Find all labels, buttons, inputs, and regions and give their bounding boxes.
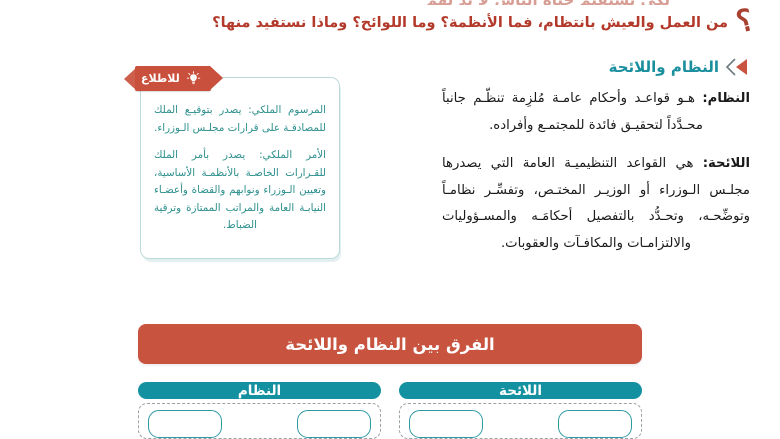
section-heading-text: النظام واللائحة <box>609 58 719 76</box>
column-item-placeholder[interactable] <box>409 410 483 438</box>
double-chevron-left-icon <box>726 58 748 76</box>
column-item-placeholder[interactable] <box>558 410 632 438</box>
column-header-laiha-text: اللائحة <box>499 383 542 399</box>
definition-text-nizam: هـو قواعـد وأحكام عامـة مُلزِمة تنظّـم ج… <box>442 91 703 133</box>
lightbulb-idea-icon <box>186 71 201 86</box>
definition-paragraph-laiha: اللائحة: هي القواعد التنظيميـة العامة ال… <box>442 151 750 257</box>
term-nizam: النظام: <box>702 91 750 106</box>
column-header-nizam-text: النظام <box>238 383 281 399</box>
aside-ribbon-label: للاطلاع <box>141 72 180 85</box>
column-body-nizam <box>138 403 381 439</box>
comparison-column-laiha: اللائحة <box>399 382 642 439</box>
column-body-laiha <box>399 403 642 439</box>
aside-ribbon: للاطلاع <box>135 66 211 91</box>
column-header-nizam: النظام <box>138 382 381 399</box>
comparison-columns: اللائحة النظام <box>138 382 642 439</box>
term-laiha: اللائحة: <box>703 156 750 171</box>
intro-question-row: ؟ من العمل والعيش بانتظام، فما الأنظمة؟ … <box>95 8 762 36</box>
page-root: لكي تستقيم حياة الناس لا بد لهم ؟ من الع… <box>0 0 780 439</box>
intro-question-text: من العمل والعيش بانتظام، فما الأنظمة؟ وم… <box>95 8 728 36</box>
comparison-column-nizam: النظام <box>138 382 381 439</box>
column-item-placeholder[interactable] <box>297 410 371 438</box>
definition-paragraph-nizam: النظام: هـو قواعـد وأحكام عامـة مُلزِمة … <box>442 86 750 139</box>
aside-note-royal-order: الأمر الملكي: يصدر بأمر الملك للقـرارات … <box>154 147 326 235</box>
aside-notes: المرسوم الملكي: يصدر بتوقيـع الملك للمصا… <box>141 78 339 249</box>
section-body: النظام: هـو قواعـد وأحكام عامـة مُلزِمة … <box>442 86 750 257</box>
column-header-laiha: اللائحة <box>399 382 642 399</box>
clipped-top-line: لكي تستقيم حياة الناس لا بد لهم <box>110 0 670 5</box>
comparison-banner-title: الفرق بين النظام واللائحة <box>285 335 494 354</box>
question-mark-icon: ؟ <box>725 4 765 39</box>
column-item-placeholder[interactable] <box>148 410 222 438</box>
aside-info-box: للاطلاع المرسوم الملكي: يصدر بتوقيـع الم… <box>140 77 340 259</box>
section-heading: النظام واللائحة <box>609 58 748 76</box>
aside-note-royal-decree: المرسوم الملكي: يصدر بتوقيـع الملك للمصا… <box>154 102 326 137</box>
comparison-banner: الفرق بين النظام واللائحة <box>138 324 642 364</box>
